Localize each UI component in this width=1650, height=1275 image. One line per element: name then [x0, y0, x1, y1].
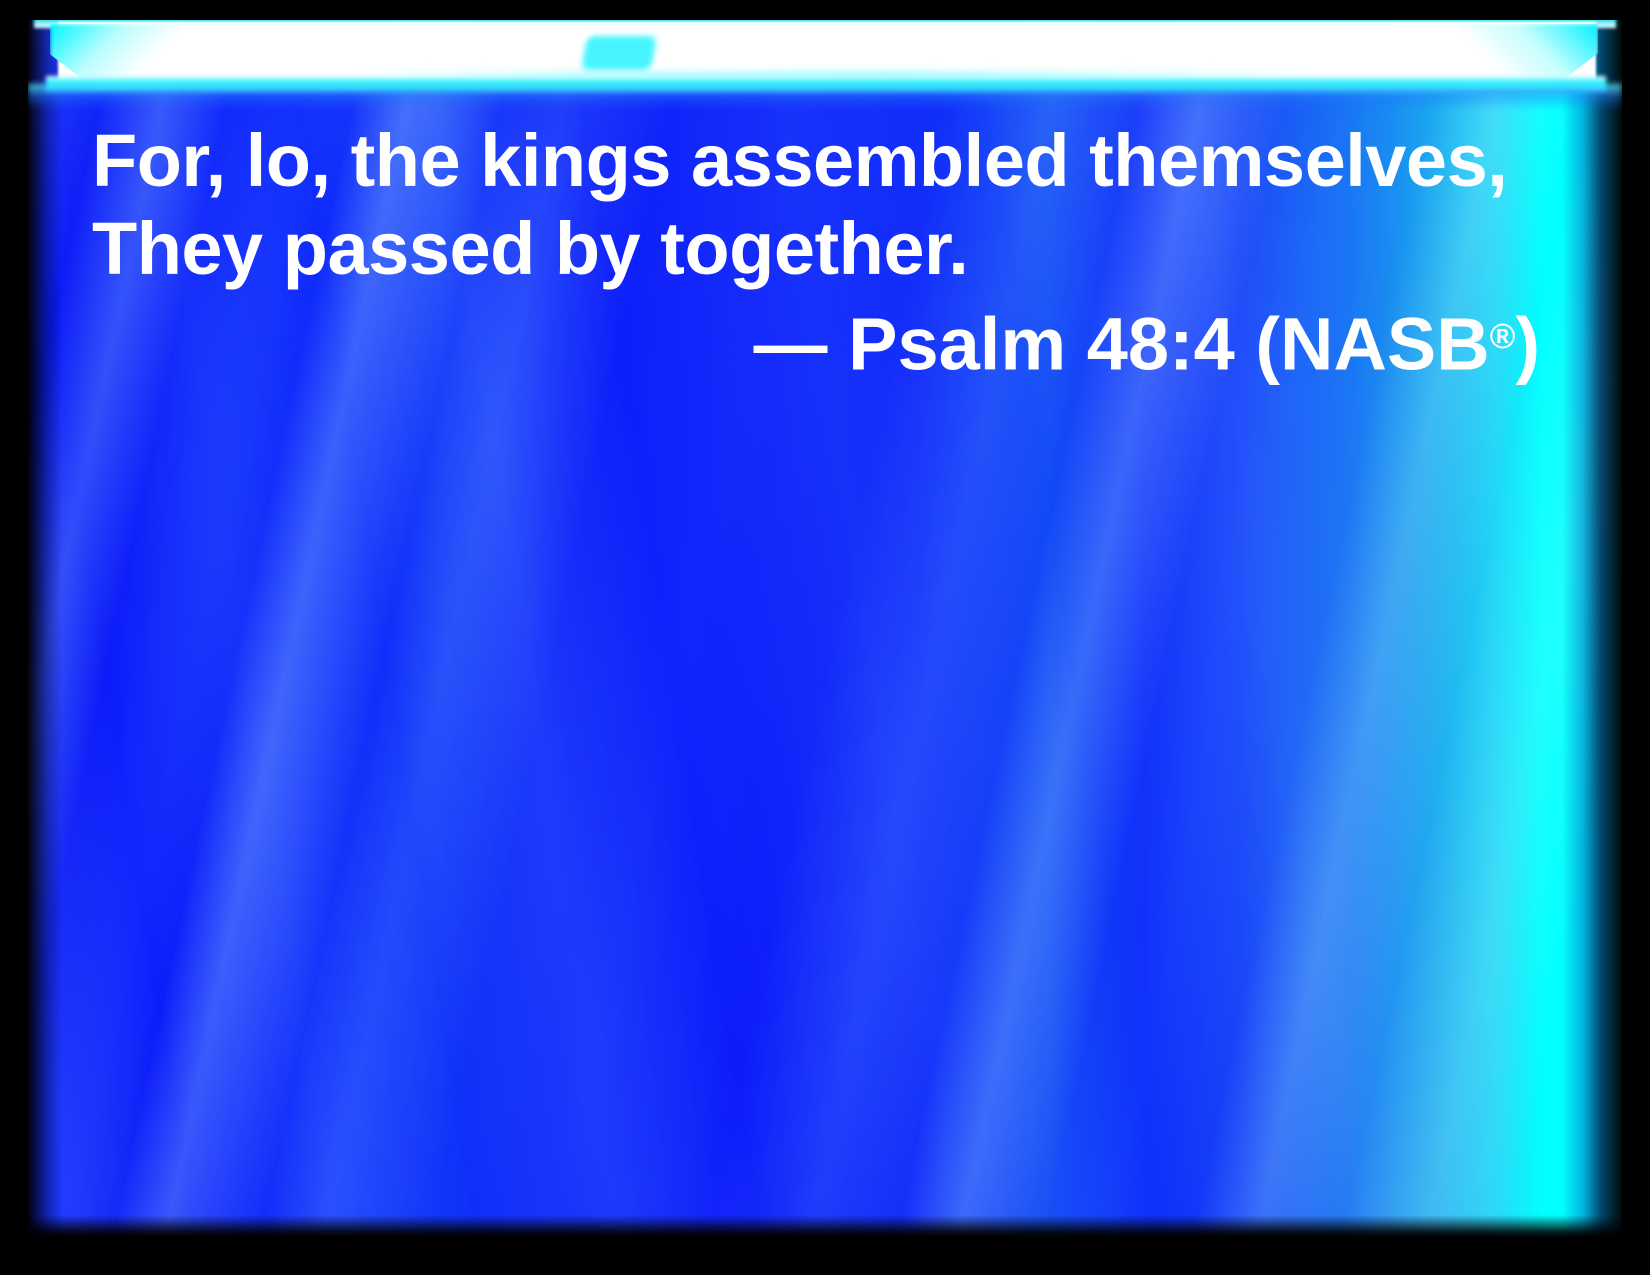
attribution-translation: NASB: [1280, 303, 1490, 386]
verse-line-2: They passed by together.: [92, 206, 968, 292]
background-left-edge-shadow: [28, 10, 62, 1237]
attribution-dash: —: [754, 303, 828, 386]
verse-line-1: For, lo, the kings assembled themselves,: [92, 118, 1507, 204]
registered-trademark-icon: ®: [1490, 318, 1516, 356]
attribution-close-paren: ): [1515, 303, 1540, 386]
attribution-book: Psalm: [848, 303, 1066, 386]
attribution-reference: 48:4: [1087, 303, 1235, 386]
verse-attribution: — Psalm 48:4 (NASB®): [754, 294, 1540, 388]
background-bottom-edge-shadow: [28, 1215, 1622, 1237]
attribution-open-paren: (: [1255, 303, 1280, 386]
scripture-slide: For, lo, the kings assembled themselves,…: [0, 0, 1650, 1275]
background-right-edge-shadow: [1562, 10, 1622, 1237]
slide-artboard: For, lo, the kings assembled themselves,…: [28, 10, 1622, 1237]
